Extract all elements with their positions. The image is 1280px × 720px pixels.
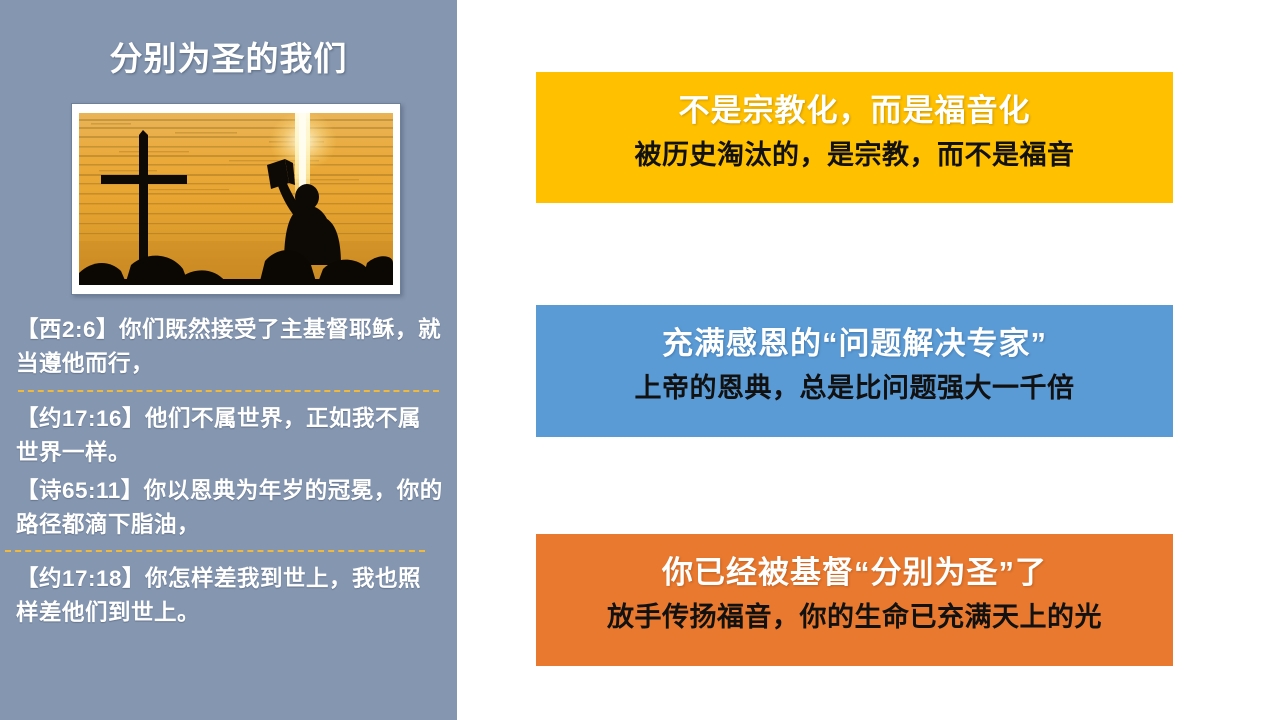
box-subheading: 放手传扬福音，你的生命已充满天上的光 [536,596,1173,638]
sidebar-panel: 分别为圣的我们 [0,0,457,720]
content-box-gospelization: 不是宗教化，而是福音化 被历史淘汰的，是宗教，而不是福音 [536,72,1173,203]
box-subheading: 上帝的恩典，总是比问题强大一千倍 [536,367,1173,409]
cross-sunset-silhouette-icon [79,113,393,285]
picture-frame [71,103,401,295]
box-heading: 你已经被基督“分别为圣”了 [536,550,1173,596]
content-box-sanctified: 你已经被基督“分别为圣”了 放手传扬福音，你的生命已充满天上的光 [536,534,1173,666]
page-title: 分别为圣的我们 [0,37,457,81]
verse-divider-1 [18,390,439,392]
verse-john-17-18: 【约17:18】你怎样差我到世上，我也照样差他们到世上。 [0,562,457,630]
box-heading: 充满感恩的“问题解决专家” [536,321,1173,367]
presentation-slide: 分别为圣的我们 [0,0,1280,720]
box-heading: 不是宗教化，而是福音化 [536,88,1173,134]
verse-psalm-65-11: 【诗65:11】你以恩典为年岁的冠冕，你的路径都滴下脂油， [0,474,457,542]
verse-john-17-16: 【约17:16】他们不属世界，正如我不属世界一样。 [0,402,457,470]
verse-col-2-6: 【西2:6】你们既然接受了主基督耶稣，就当遵他而行， [0,313,457,381]
verse-list: 【西2:6】你们既然接受了主基督耶稣，就当遵他而行， 【约17:16】他们不属世… [0,313,457,630]
box-subheading: 被历史淘汰的，是宗教，而不是福音 [536,134,1173,176]
content-box-problem-solver: 充满感恩的“问题解决专家” 上帝的恩典，总是比问题强大一千倍 [536,305,1173,437]
verse-divider-2 [5,550,425,552]
